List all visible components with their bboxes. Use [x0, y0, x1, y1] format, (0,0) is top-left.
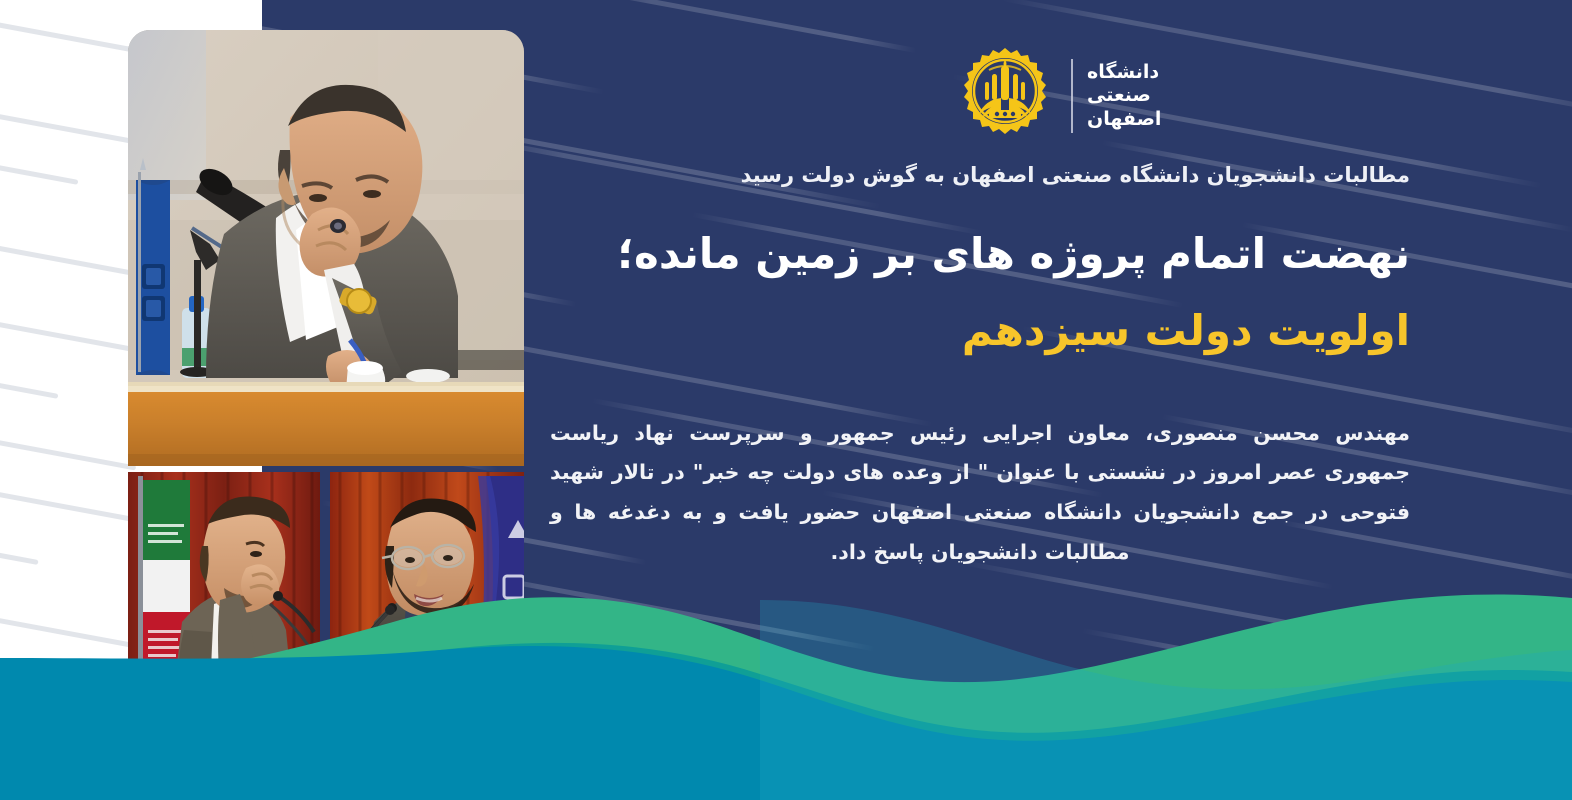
headline-line-1: نهضت اتمام پروژه های بر زمین مانده؛: [550, 222, 1410, 285]
photo-main: [128, 30, 524, 466]
diagonal-rule: [0, 470, 146, 524]
diagonal-rule: [0, 158, 78, 185]
wave-artwork: [0, 540, 1572, 800]
logo-divider: [1071, 59, 1073, 133]
iut-gear-emblem-icon: [955, 46, 1055, 146]
diagonal-streak: [592, 0, 917, 53]
logo-line-2: صنعتی: [1087, 84, 1151, 107]
diagonal-rule: [0, 420, 136, 470]
headline-line-2: اولویت دولت سیزدهم: [550, 299, 1410, 362]
news-banner: دانشگاه صنعتی اصفهان: [0, 0, 1572, 800]
photo-main-artwork: [128, 30, 524, 466]
logo-line-3: اصفهان: [1087, 108, 1161, 131]
logo-wordmark: دانشگاه صنعتی اصفهان: [1073, 61, 1161, 131]
wave-decoration: [0, 540, 1572, 800]
university-logo-lockup: دانشگاه صنعتی اصفهان: [955, 42, 1170, 150]
kicker-text: مطالبات دانشجویان دانشگاه صنعتی اصفهان ب…: [550, 160, 1410, 192]
diagonal-rule: [0, 372, 58, 399]
copy-block: مطالبات دانشجویان دانشگاه صنعتی اصفهان ب…: [550, 160, 1410, 573]
logo-line-1: دانشگاه: [1087, 61, 1159, 84]
